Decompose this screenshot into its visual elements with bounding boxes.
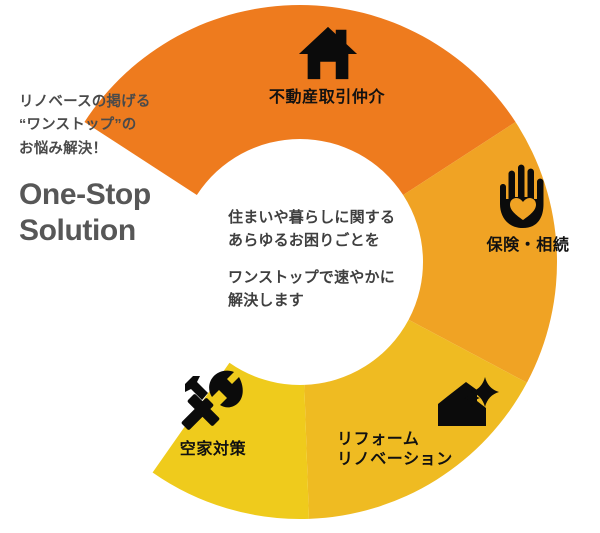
left-copy-block: リノベースの掲げる “ワンストップ”の お悩み解決！ One-Stop Solu… <box>19 91 219 248</box>
hammer-wrench-icon <box>176 368 248 430</box>
segment-label-0: 不動産取引仲介 <box>237 88 417 108</box>
house-sparkle-icon <box>430 374 502 434</box>
page-title: One-Stop Solution <box>19 177 219 248</box>
hand-heart-icon <box>494 163 552 229</box>
center-copy-block: 住まいや暮らしに関する あらゆるお困りごとを ワンストップで速やかに 解決します <box>228 206 443 312</box>
infographic-canvas: 不動産取引仲介 保険・相続 リフォーム リノベーション 空家対策 リノベースの掲… <box>0 0 600 533</box>
center-paragraph-2: ワンストップで速やかに 解決します <box>228 266 443 313</box>
segment-label-2: リフォーム リノベーション <box>337 430 497 471</box>
segment-label-3: 空家対策 <box>143 440 283 460</box>
house-icon <box>297 22 359 84</box>
center-paragraph-1: 住まいや暮らしに関する あらゆるお困りごとを <box>228 206 443 253</box>
lead-text: リノベースの掲げる “ワンストップ”の お悩み解決！ <box>19 91 219 161</box>
segment-label-1: 保険・相続 <box>448 236 600 256</box>
